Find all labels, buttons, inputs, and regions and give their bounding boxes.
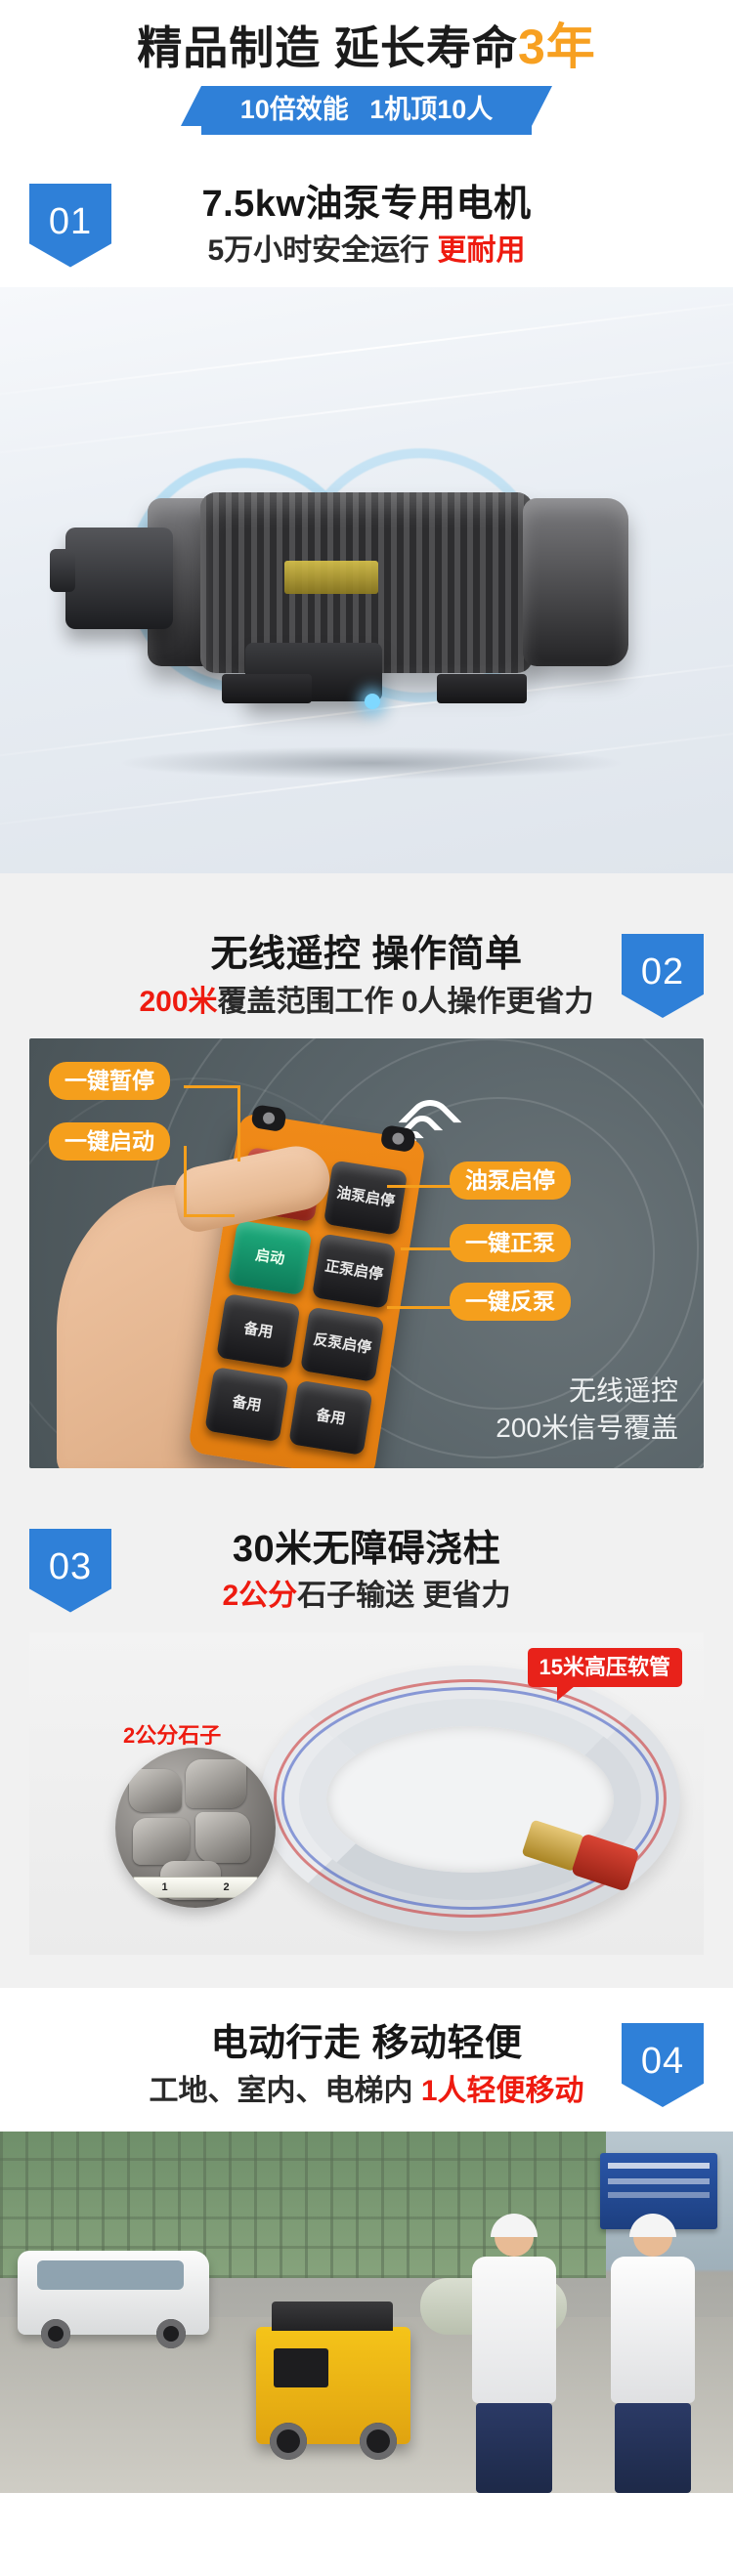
white-van [18, 2251, 209, 2335]
hero-band-text-2: 1机顶10人 [356, 95, 493, 124]
section-04-head: 04 电动行走 移动轻便 工地、室内、电梯内 1人轻便移动 [0, 1988, 733, 2132]
section-01-sub-plain: 5万小时安全运行 [207, 234, 429, 267]
photo-label-reverse-pump: 一键反泵 [450, 1283, 571, 1321]
motor-illustration [54, 434, 689, 756]
remote-key[interactable]: 正泵启停 [312, 1233, 396, 1308]
section-03-sub-plain: 石子输送 更省力 [297, 1580, 510, 1612]
label-stone-size: 2公分石子 [123, 1718, 221, 1750]
hero-header: 精品制造 延长寿命3年 10倍效能 1机顶10人 [0, 0, 733, 135]
section-03-photo-outer: 15米高压软管 2公分石子 1 2 [0, 1632, 733, 1988]
remote-key[interactable]: 油泵启停 [323, 1160, 408, 1235]
section-04-sub-plain: 工地、室内、电梯内 [149, 2075, 420, 2107]
section-02-head: 02 无线遥控 操作简单 200米覆盖范围工作 0人操作更省力 [0, 907, 733, 1038]
section-02-sub-red: 200米 [139, 986, 217, 1018]
remote-key[interactable]: 备用 [288, 1379, 372, 1455]
photo-label-pause: 一键暂停 [49, 1062, 170, 1100]
hero-title: 精品制造 延长寿命3年 [0, 20, 733, 76]
hero-title-accent: 3年 [518, 20, 596, 74]
photo-label-oil-pump: 油泵启停 [450, 1161, 571, 1200]
section-02-photo-note: 无线遥控 200米信号覆盖 [496, 1372, 678, 1447]
section-03-number: 03 [49, 1529, 92, 1585]
section-02-photo-remote: 停 油泵启停 启动 正泵启停 备用 反泵启停 备用 [29, 1038, 704, 1468]
hero-banner: 10倍效能 1机顶10人 [201, 86, 533, 135]
hero-title-main: 精品制造 延长寿命 [137, 22, 518, 73]
section-03-head: 03 30米无障碍浇柱 2公分石子输送 更省力 [0, 1501, 733, 1633]
section-01-photo-motor [0, 287, 733, 873]
section-04-photo-site [0, 2132, 733, 2493]
note-line-2: 200米信号覆盖 [496, 1410, 678, 1447]
product-detail-page: 精品制造 延长寿命3年 10倍效能 1机顶10人 01 7.5kw油泵专用电机 … [0, 0, 733, 2576]
remote-key[interactable]: 备用 [216, 1293, 300, 1369]
section-03-sub-red: 2公分 [222, 1580, 297, 1612]
callout-hose-length: 15米高压软管 [528, 1648, 682, 1687]
section-04: 04 电动行走 移动轻便 工地、室内、电梯内 1人轻便移动 [0, 1988, 733, 2493]
hero-band-text-1: 10倍效能 [240, 95, 349, 124]
section-03: 03 30米无障碍浇柱 2公分石子输送 更省力 15米高压软管 2公分石子 [0, 1501, 733, 1989]
stone-photo: 1 2 [115, 1748, 276, 1908]
section-03-photo-hose: 15米高压软管 2公分石子 1 2 [29, 1632, 704, 1955]
concrete-pump-machine [256, 2327, 410, 2444]
ruler-mark: 2 [223, 1881, 229, 1893]
section-01: 01 7.5kw油泵专用电机 5万小时安全运行 更耐用 [0, 156, 733, 874]
section-02-photo-outer: 停 油泵启停 启动 正泵启停 备用 反泵启停 备用 [0, 1038, 733, 1501]
ruler-scale: 1 2 [133, 1877, 258, 1898]
spacer [0, 135, 733, 156]
remote-key[interactable]: 反泵启停 [300, 1306, 384, 1381]
section-04-number: 04 [641, 2023, 684, 2080]
section-02-number: 02 [641, 934, 684, 991]
photo-label-start: 一键启动 [49, 1122, 170, 1161]
section-01-number: 01 [49, 184, 92, 240]
section-02: 02 无线遥控 操作简单 200米覆盖范围工作 0人操作更省力 [0, 907, 733, 1501]
worker [606, 2217, 700, 2493]
section-01-sub-red: 更耐用 [438, 234, 526, 267]
divider [0, 873, 733, 907]
remote-key[interactable]: 启动 [228, 1219, 312, 1294]
section-01-head: 01 7.5kw油泵专用电机 5万小时安全运行 更耐用 [0, 156, 733, 288]
indicator-led-icon [365, 694, 380, 709]
ruler-mark: 1 [161, 1881, 167, 1893]
note-line-1: 无线遥控 [496, 1372, 678, 1410]
hero-band-wrap: 10倍效能 1机顶10人 [0, 86, 733, 135]
photo-label-forward-pump: 一键正泵 [450, 1224, 571, 1262]
remote-key[interactable]: 备用 [204, 1367, 288, 1442]
worker [467, 2217, 561, 2493]
section-04-sub-red: 1人轻便移动 [421, 2075, 584, 2107]
section-02-sub-plain: 覆盖范围工作 0人操作更省力 [218, 986, 594, 1018]
